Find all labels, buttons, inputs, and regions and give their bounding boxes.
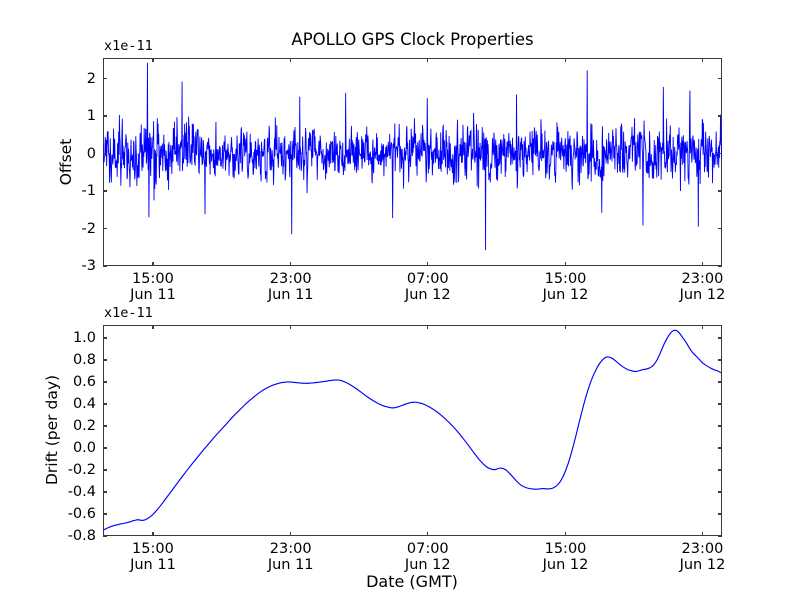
y-tick-mark (718, 403, 722, 404)
drift-line-series (103, 330, 721, 530)
x-tick-time: 15:00 (132, 541, 174, 557)
y-tick-mark (103, 359, 107, 360)
x-tick-mark (290, 532, 291, 536)
y-tick-mark (718, 337, 722, 338)
y-tick-label: -0.2 (68, 462, 96, 478)
y-tick-mark (718, 381, 722, 382)
y-tick-mark (103, 513, 107, 514)
y-tick-label: 1.0 (73, 330, 96, 346)
x-tick-mark (427, 325, 428, 329)
y-tick-mark (103, 425, 107, 426)
x-tick-date: Jun 11 (268, 558, 314, 574)
x-tick-date: Jun 12 (680, 558, 726, 574)
x-tick-mark (290, 325, 291, 329)
x-tick-label: 15:00Jun 12 (543, 542, 589, 573)
y-tick-mark (718, 469, 722, 470)
y-tick-mark (103, 469, 107, 470)
x-tick-time: 07:00 (407, 541, 449, 557)
x-tick-date: Jun 12 (405, 558, 451, 574)
y-tick-mark (718, 359, 722, 360)
x-tick-time: 23:00 (270, 541, 312, 557)
y-tick-label: 0.8 (73, 352, 96, 368)
y-tick-mark (103, 337, 107, 338)
y-tick-label: 0.0 (73, 440, 96, 456)
x-tick-label: 23:00Jun 11 (268, 542, 314, 573)
x-tick-mark (152, 532, 153, 536)
y-tick-label: 0.2 (73, 418, 96, 434)
y-tick-mark (103, 535, 107, 536)
x-tick-mark (427, 532, 428, 536)
y-tick-mark (718, 535, 722, 536)
x-tick-time: 15:00 (545, 541, 587, 557)
x-tick-mark (565, 532, 566, 536)
y-tick-mark (103, 491, 107, 492)
y-tick-mark (103, 403, 107, 404)
y-tick-mark (718, 447, 722, 448)
y-tick-mark (103, 381, 107, 382)
x-tick-mark (565, 325, 566, 329)
matplotlib-figure: APOLLO GPS Clock Properties x1e-11 Offse… (0, 0, 800, 600)
x-tick-time: 23:00 (682, 541, 724, 557)
y-tick-label: 0.4 (73, 396, 96, 412)
y-tick-mark (103, 447, 107, 448)
x-tick-date: Jun 12 (543, 558, 589, 574)
y-tick-label: 0.6 (73, 374, 96, 390)
y-tick-label: -0.8 (68, 528, 96, 544)
x-tick-label: 23:00Jun 12 (680, 542, 726, 573)
y-tick-mark (718, 513, 722, 514)
y-tick-label: -0.6 (68, 506, 96, 522)
y-tick-label: -0.4 (68, 484, 96, 500)
x-tick-mark (152, 325, 153, 329)
y-tick-mark (718, 425, 722, 426)
drift-axis-x-label: Date (GMT) (366, 572, 458, 591)
x-tick-date: Jun 11 (130, 558, 176, 574)
drift-plot-canvas (0, 0, 800, 600)
drift-axis-y-label: Drift (per day) (43, 375, 61, 485)
x-tick-label: 15:00Jun 11 (130, 542, 176, 573)
x-tick-mark (702, 532, 703, 536)
x-tick-label: 07:00Jun 12 (405, 542, 451, 573)
y-tick-mark (718, 491, 722, 492)
x-tick-mark (702, 325, 703, 329)
